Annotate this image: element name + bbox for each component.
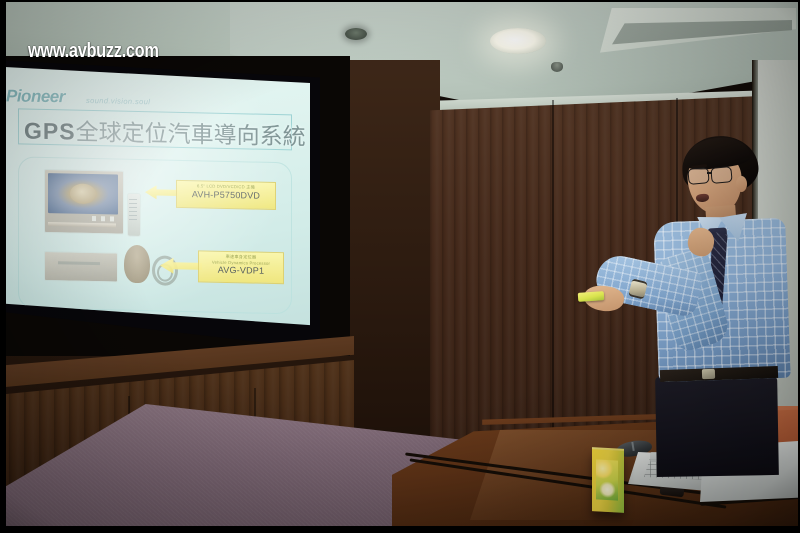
wall-seam: [552, 100, 554, 456]
slide-title-cjk: 全球定位汽車導向系統: [76, 119, 306, 150]
head-unit-knob: [70, 184, 96, 205]
vdp-module-image: [44, 251, 118, 283]
presenter-trousers: [655, 375, 779, 477]
callout-product-2: 車速車身定位器 Vehicle Dynamics Processor AVG-V…: [198, 250, 284, 284]
watermark: www.avbuzz.com: [28, 40, 159, 63]
callout-1-model: AVH-P5750DVD: [177, 189, 275, 202]
callout-2-model: AVG-VDP1: [199, 264, 283, 277]
presenter-remote-device[interactable]: [578, 291, 605, 302]
photograph: Pioneer sound.vision.soul GPS全球定位汽車導向系統 …: [0, 0, 800, 533]
presentation-slide: Pioneer sound.vision.soul GPS全球定位汽車導向系統 …: [0, 64, 310, 336]
presenter-ear: [736, 176, 747, 192]
lit-downlight-icon: [490, 28, 546, 54]
slide-title: GPS全球定位汽車導向系統: [24, 112, 306, 152]
presenter: [560, 132, 800, 472]
glasses-bridge: [707, 172, 712, 174]
head-unit-buttons: [92, 216, 116, 222]
glasses-lens-right: [710, 166, 732, 184]
photo-border-top: [0, 0, 800, 2]
gps-antenna-image: [124, 245, 150, 284]
unlit-downlight-icon: [345, 28, 367, 40]
glasses-icon: [688, 168, 732, 183]
remote-buttons: [129, 199, 137, 223]
sprinkler-head-icon: [551, 62, 563, 72]
photo-border-bottom: [0, 526, 800, 533]
pioneer-tagline: sound.vision.soul: [86, 96, 150, 106]
callout-product-1: 6.5" LCD DVD/VCD/CD 主機 AVH-P5750DVD: [176, 180, 276, 210]
pioneer-logo: Pioneer: [6, 86, 65, 107]
slide-title-latin: GPS: [24, 118, 76, 145]
photo-border-left: [0, 0, 6, 533]
belt-buckle: [702, 369, 715, 379]
projection-screen: Pioneer sound.vision.soul GPS全球定位汽車導向系統 …: [0, 64, 310, 336]
glasses-lens-left: [687, 167, 709, 185]
